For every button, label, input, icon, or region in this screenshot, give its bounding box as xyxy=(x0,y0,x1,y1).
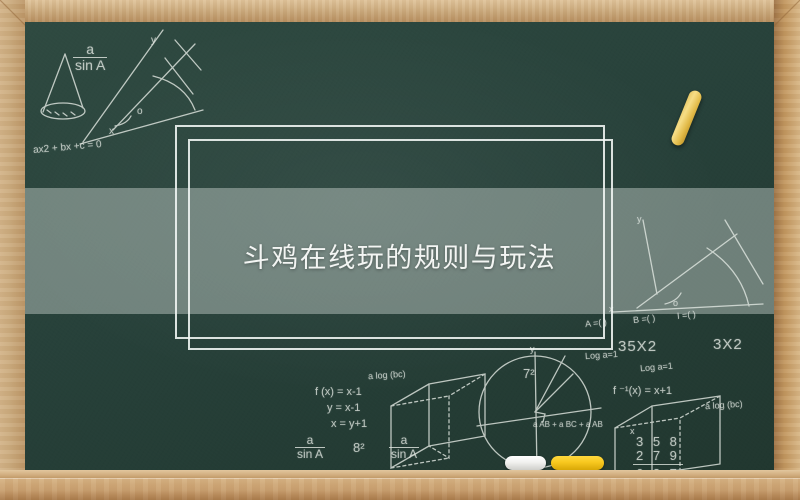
chalk-function-fx: f (x) = x-1 xyxy=(315,386,362,398)
chalk-subtraction-minuend: 3 5 8 xyxy=(636,434,680,449)
frame-top-rail xyxy=(0,0,800,22)
ledge-lip xyxy=(0,470,800,478)
page-title: 斗鸡在线玩的规则与玩法 xyxy=(25,236,774,275)
chalk-angle-label-top-left: o xyxy=(137,106,143,117)
chalk-multiplication-35x2: 35X2 xyxy=(618,338,657,355)
chalk-stick-white-icon xyxy=(505,456,546,470)
chalk-axis-label-x-top-left: x xyxy=(109,126,114,137)
chalkboard-banner: a sin A y x o ax2 + bx +c = 0 y x o f (x… xyxy=(0,0,800,500)
chalk-triangle-expression: a AB + a BC + a AB xyxy=(533,420,603,429)
frame-left-rail xyxy=(0,0,25,500)
chalk-axis-label-y-top-left: y xyxy=(151,35,156,46)
chalk-axis-label-x-bottom-right: x xyxy=(630,426,635,436)
chalk-ledge xyxy=(0,478,800,500)
chalk-eight-squared: 8² xyxy=(353,440,365,455)
chalk-function-y: y = x-1 xyxy=(327,402,360,414)
chalk-sine-rule-bottom-center: a sin A xyxy=(389,434,419,460)
chalk-function-x: x = y+1 xyxy=(331,418,367,430)
chalk-sine-rule-bottom-left: a sin A xyxy=(295,434,325,460)
chalk-inverse-function: f ⁻¹(x) = x+1 xyxy=(613,384,672,397)
chalk-subtraction-subtrahend: 2 7 9 xyxy=(636,448,680,463)
chalk-subtraction-rule xyxy=(633,464,683,465)
chalkboard-surface: a sin A y x o ax2 + bx +c = 0 y x o f (x… xyxy=(25,22,774,478)
chalk-stick-yellow-icon xyxy=(551,456,604,470)
chalk-formula-sine-rule-top-left: a sin A xyxy=(73,42,107,72)
chalk-multiplication-3x2: 3X2 xyxy=(713,336,743,353)
chalk-seven-squared: 7² xyxy=(523,366,535,381)
frame-right-rail xyxy=(774,0,800,500)
